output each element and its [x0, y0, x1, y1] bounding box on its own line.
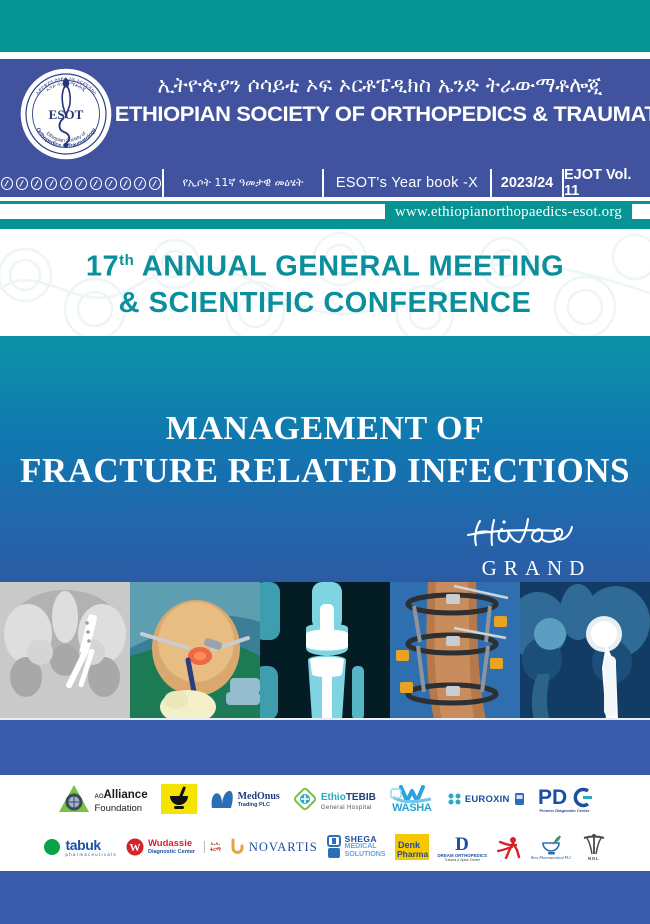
website-url[interactable]: www.ethiopianorthopaedics-esot.org [385, 203, 632, 221]
white-divider [0, 52, 650, 59]
svg-text:PD: PD [538, 786, 567, 808]
sponsor-drugs[interactable] [161, 784, 197, 814]
photo-hip-arthroplasty [520, 582, 650, 720]
footer-band [0, 871, 650, 924]
meeting-line1-text: ANNUAL GENERAL MEETING [142, 250, 564, 282]
sponsor-wudassie[interactable]: W Wudassie Diagnostic Center [126, 838, 195, 856]
sponsor-label: MedOnus Trading PLC [238, 791, 280, 808]
sponsor-nol[interactable]: NOL [581, 834, 607, 861]
info-amharic-label: የኢሶት 11ኛ ዓመታዊ መዕሄት [164, 169, 324, 197]
photo-external-fixator [390, 582, 520, 720]
sponsor-label: EthioTEBIB General Hospital [321, 787, 376, 811]
info-volume: EJOT Vol. 11 [564, 169, 650, 197]
sponsor-section: AOAlliance Foundation MedOnus [0, 775, 650, 871]
sponsor-medonus[interactable]: MedOnus Trading PLC [210, 788, 280, 810]
ao-alliance-icon [58, 784, 90, 814]
sponsor-label-2: ፋርማ [210, 847, 221, 853]
photo-strip [0, 582, 650, 720]
sponsor-ethiotebib[interactable]: EthioTEBIB General Hospital [293, 787, 376, 811]
sponsor-euroxin[interactable]: EUROXIN [448, 792, 525, 806]
photo-knee-radiograph [260, 582, 390, 720]
sponsor-pdc[interactable]: PD Pioneer Diagnostic Center [538, 786, 592, 813]
dream-orthopedics-icon: D [451, 833, 473, 853]
esot-logo: ኢትዮጵያን ሶሳይቲ ኦፍ ኦርቶፔዲክስ ኤንድ ትራውማቶሎጂ Ortho… [18, 66, 114, 162]
svg-text:Pharma: Pharma [397, 849, 428, 859]
sponsor-label: NOL [588, 856, 599, 861]
masthead-text: ኢትዮጵያን ሶሳይቲ ኦፍ ኦርቶፔዲክስ ኤንድ ትራውማቶሎጂ ETHIO… [120, 70, 640, 128]
sponsor-label: WASHA [392, 802, 431, 814]
novartis-icon [230, 838, 245, 856]
organization-name-amharic: ኢትዮጵያን ሶሳይቲ ኦፍ ኦርቶፔዲክስ ኤንድ ትራውማቶሎጂ [120, 70, 640, 100]
svg-text:ESOT: ESOT [49, 107, 84, 122]
info-yearbook: ESOT's Year book -X [324, 169, 492, 197]
sponsor-label: Wudassie Diagnostic Center [148, 839, 195, 855]
sponsor-label: AOAlliance Foundation [94, 785, 147, 814]
info-band: የኢሶት 11ኛ ዓመታዊ መዕሄት ESOT's Year book -X 2… [0, 169, 650, 197]
meeting-ordinal: 17 [86, 250, 119, 282]
meeting-title-line2: & SCIENTIFIC CONFERENCE [119, 284, 532, 322]
sponsor-label-2: Trauma & Spine Center [445, 858, 481, 862]
sponsor-shega[interactable]: SHEGA MEDICAL SOLUTIONS [327, 835, 386, 860]
poster-page: ኢትዮጵያን ሶሳይቲ ኦፍ ኦርቶፔዲክስ ኤንድ ትራውማቶሎጂ Ortho… [0, 0, 650, 924]
photo-pelvis-xray [0, 582, 130, 720]
venue-name: GRAND [458, 557, 608, 579]
info-year: 2023/24 [492, 169, 564, 197]
lower-blue-band [0, 720, 650, 775]
mortar-leaf-icon [538, 834, 564, 856]
svg-text:D: D [455, 834, 469, 853]
sponsor-dream-orthopedics[interactable]: D DREAM ORTHOPEDICS Trauma & Spine Cente… [438, 833, 488, 862]
sponsor-novartis[interactable]: NOVARTIS [230, 838, 318, 856]
sponsor-ao-alliance[interactable]: AOAlliance Foundation [58, 784, 147, 814]
mortar-pestle-icon [161, 784, 197, 814]
red-figure-icon [496, 835, 522, 859]
caduceus-icon [581, 834, 607, 856]
sponsor-label: Bera Pharmaceutical PLC [531, 856, 572, 860]
sponsor-tabuk[interactable]: tabuk pharmaceuticals [43, 838, 117, 857]
sponsor-label: tabuk pharmaceuticals [65, 838, 117, 857]
meeting-title-line1: 17th ANNUAL GENERAL MEETING [86, 243, 564, 285]
sponsor-row-1: AOAlliance Foundation MedOnus [0, 775, 650, 823]
organization-name-english: ETHIOPIAN SOCIETY OF ORTHOPEDICS & TRAUM… [115, 100, 645, 128]
photo-knee-surgery [130, 582, 260, 720]
ethiotebib-icon [293, 787, 317, 811]
denk-pharma-icon: Denk Pharma [395, 834, 429, 860]
theme-line2: FRACTURE RELATED INFECTIONS [0, 450, 650, 492]
euroxin-box-icon [514, 792, 525, 806]
shega-icon [327, 835, 341, 859]
meeting-ordinal-suffix: th [119, 252, 134, 269]
sponsor-label: Pioneer Diagnostic Center [540, 808, 590, 813]
sponsor-washa[interactable]: WASHA [389, 785, 435, 814]
sponsor-row-2: tabuk pharmaceuticals W Wudassie Diagnos… [0, 823, 650, 871]
sponsor-label: EUROXIN [465, 794, 510, 805]
agm-section: 17th ANNUAL GENERAL MEETING & SCIENTIFIC… [0, 229, 650, 336]
sponsor-denk-pharma[interactable]: Denk Pharma [395, 834, 429, 860]
theme-line1: MANAGEMENT OF [0, 408, 650, 450]
sponsor-bera-pharmaceutical[interactable]: Bera Pharmaceutical PLC [531, 834, 572, 860]
svg-text:W: W [129, 842, 140, 854]
medonus-icon [210, 788, 234, 810]
theme-title: MANAGEMENT OF FRACTURE RELATED INFECTION… [0, 408, 650, 492]
sponsor-label: NOVARTIS [249, 840, 318, 855]
pdc-icon: PD [538, 786, 592, 808]
sponsor-aa-pharma[interactable]: አ.አ. ፋርማ [204, 841, 221, 853]
decorative-circles [0, 169, 164, 197]
euroxin-icon [448, 793, 461, 805]
top-teal-strip [0, 0, 650, 52]
wudassie-icon: W [126, 838, 144, 856]
tabuk-icon [43, 838, 61, 856]
haile-script-icon [458, 515, 608, 551]
sponsor-red-figure[interactable] [496, 835, 522, 859]
sponsor-label: SHEGA MEDICAL SOLUTIONS [345, 835, 386, 860]
